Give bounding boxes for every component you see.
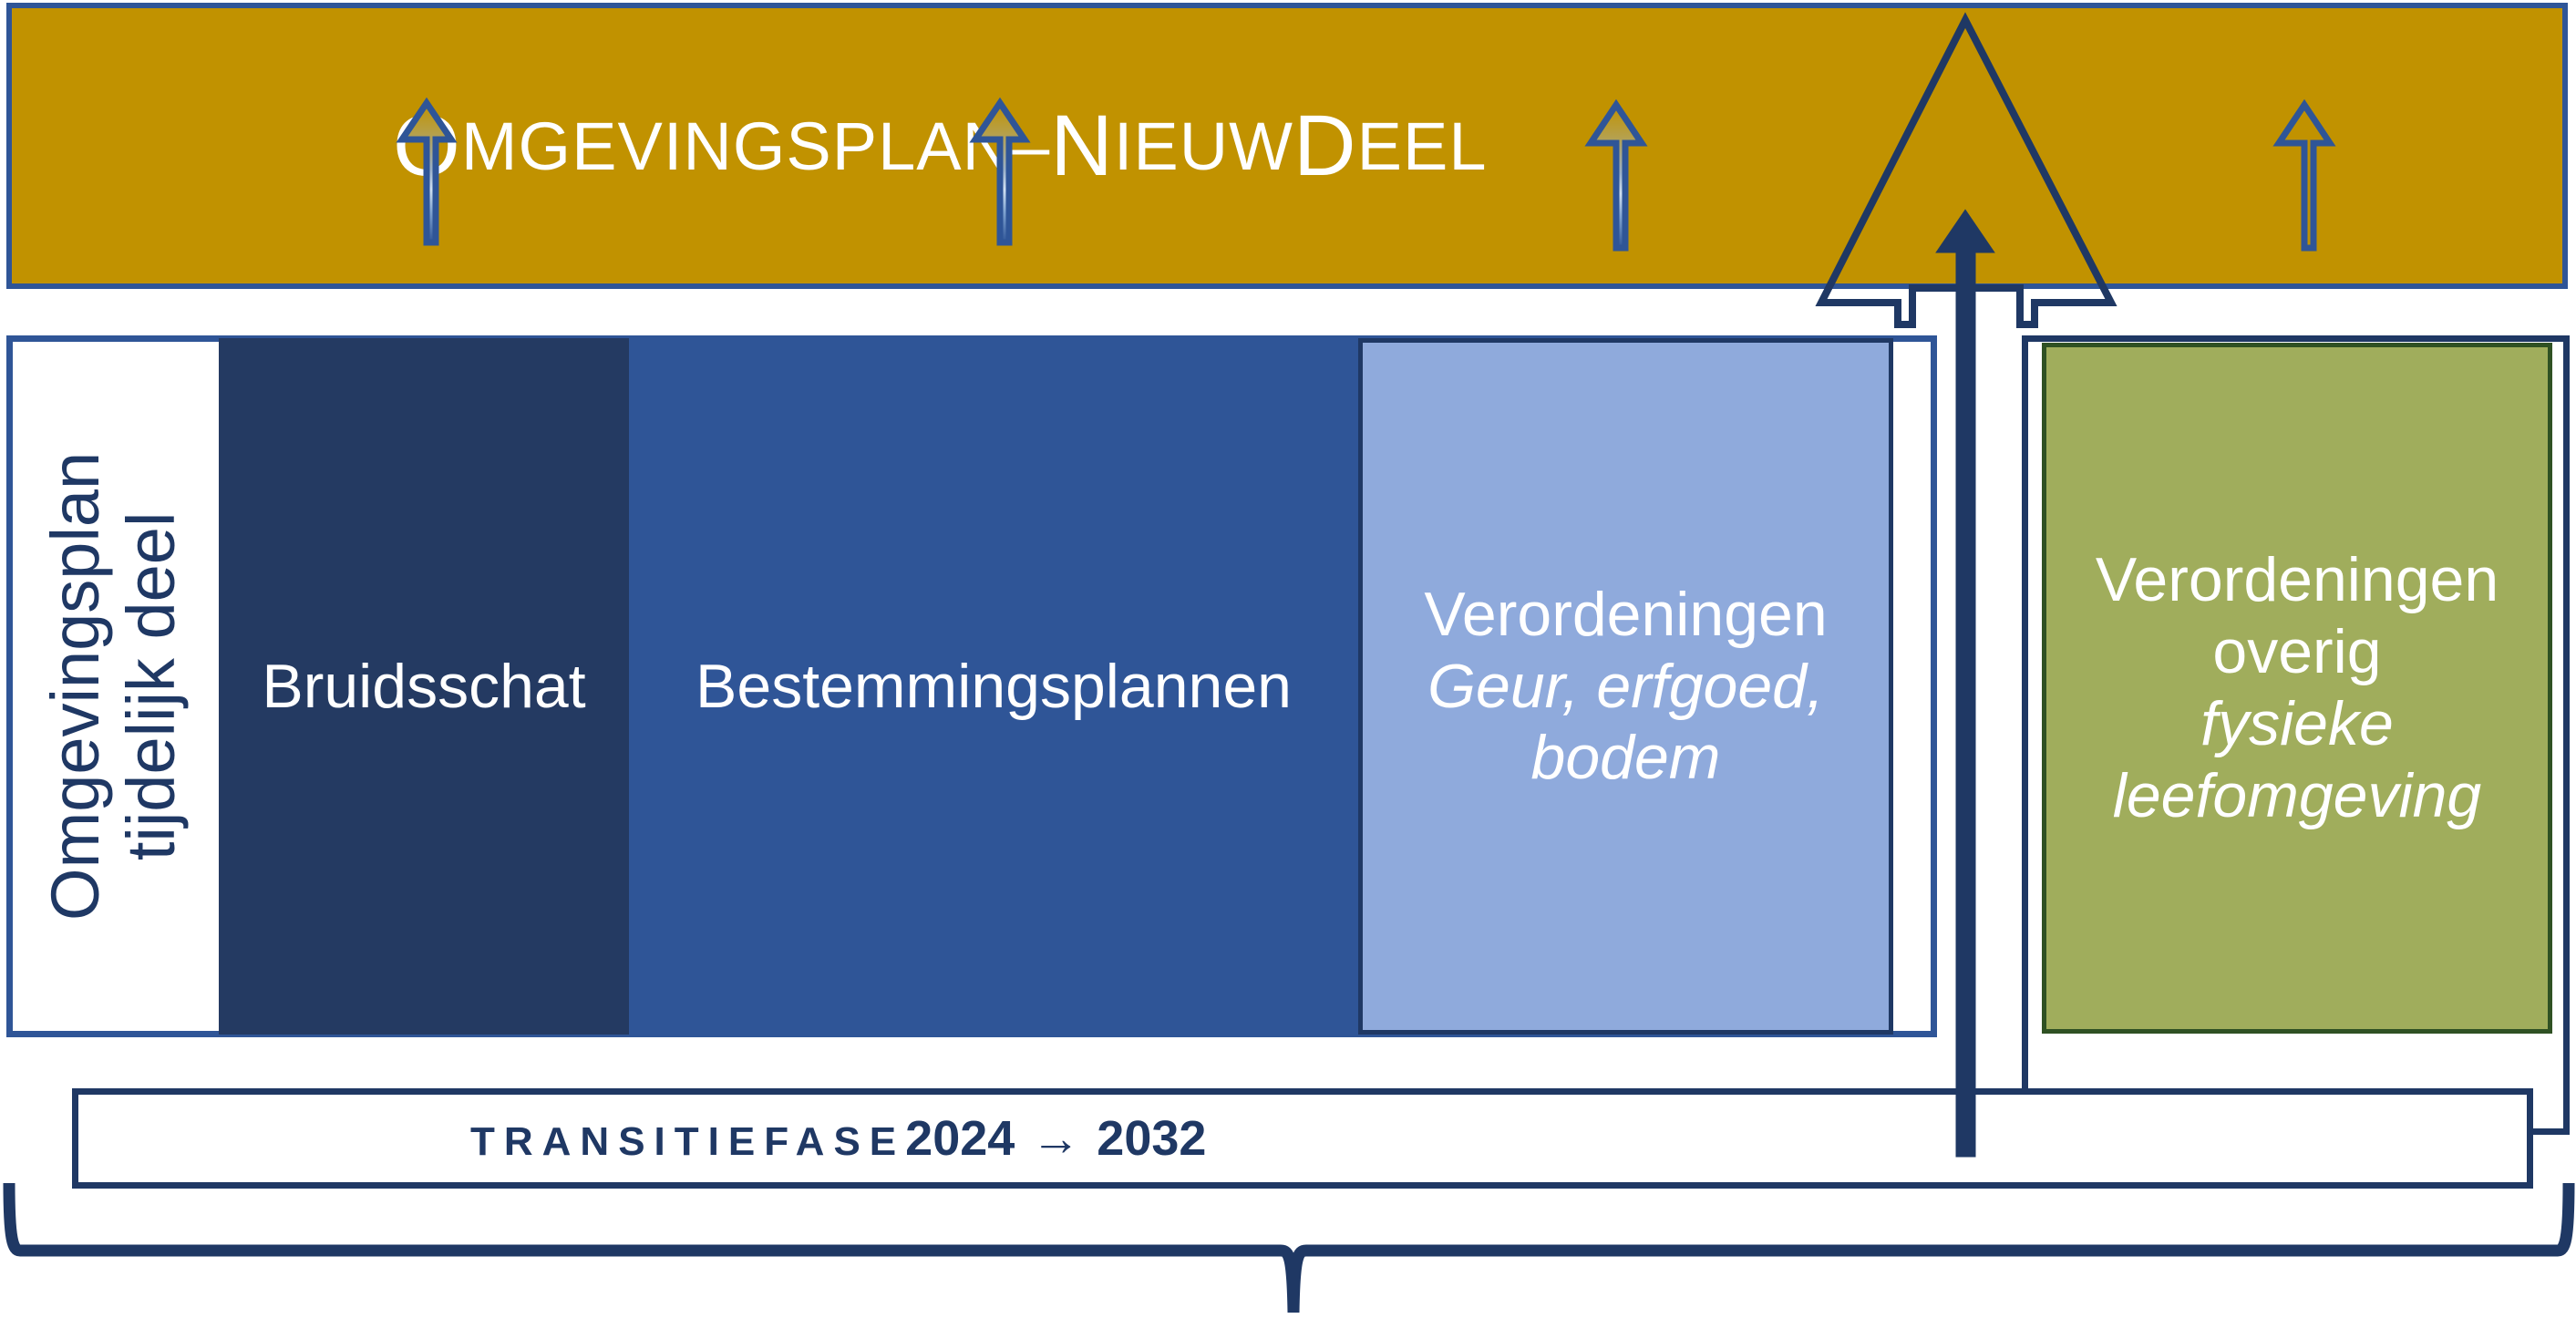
diagram-canvas: OMGEVINGSPLAN – NIEUW DEEL Omgevingsplan…: [0, 0, 2576, 1318]
panel-verordeningen-title: Verordeningen: [1424, 579, 1827, 651]
title-rest-1: MGEVINGSPLAN: [461, 108, 1012, 185]
arrow-up-icon-merge-stem: [1938, 211, 1993, 1156]
transitiefase-year-start: 2024: [905, 1111, 1015, 1166]
title-cap-d: D: [1293, 97, 1357, 196]
omgevingsplan-nieuw-deel-bar: OMGEVINGSPLAN – NIEUW DEEL: [6, 3, 2568, 289]
title-dash: –: [1012, 108, 1050, 185]
panel-verordeningen-subtitle: Geur, erfgoed, bodem: [1363, 651, 1889, 795]
panel-verordeningen-overig[interactable]: Verordeningen overig fysieke leefomgevin…: [2042, 343, 2552, 1034]
panel-bestemmingsplannen-label: Bestemmingsplannen: [696, 651, 1292, 723]
title-cap-n: N: [1050, 97, 1114, 196]
panel-bruidsschat[interactable]: Bruidsschat: [219, 338, 629, 1035]
title-cap-o: O: [393, 97, 461, 196]
transitiefase-bar: TRANSITIEFASE2024→2032: [72, 1088, 2533, 1189]
panel-bruidsschat-label: Bruidsschat: [262, 651, 585, 723]
arrow-right-icon: →: [1015, 1111, 1097, 1166]
panel-verordeningen-tijdelijk[interactable]: Verordeningen Geur, erfgoed, bodem: [1358, 338, 1893, 1035]
transitiefase-text: TRANSITIEFASE2024→2032: [470, 1110, 1206, 1167]
panel-bestemmingsplannen[interactable]: Bestemmingsplannen: [629, 338, 1358, 1035]
curly-brace-icon: [9, 1183, 2569, 1313]
transitiefase-label: TRANSITIEFASE: [470, 1119, 905, 1164]
title-rest-2: IEUW: [1114, 108, 1293, 185]
page-title: OMGEVINGSPLAN – NIEUW DEEL: [12, 8, 2562, 283]
panel-verordeningen-overig-subtitle: fysieke leefomgeving: [2046, 688, 2548, 832]
panel-verordeningen-overig-title: Verordeningen overig: [2046, 544, 2548, 688]
transitiefase-year-end: 2032: [1097, 1111, 1206, 1166]
title-rest-3: EEL: [1357, 108, 1488, 185]
